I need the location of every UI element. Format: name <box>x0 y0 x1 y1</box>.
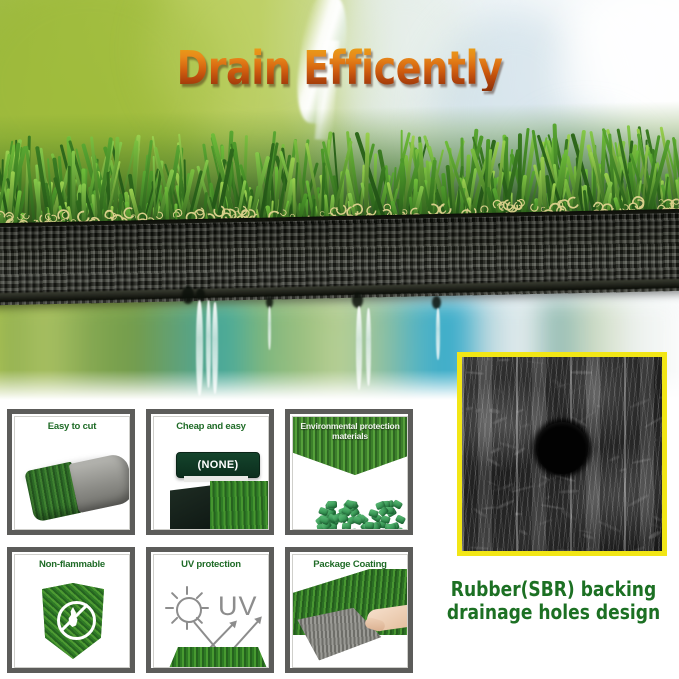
rolled-turf-icon <box>24 452 130 527</box>
feature-cell-package-coating[interactable]: Package Coating <box>285 547 413 673</box>
page-title: Drain Efficently <box>27 45 652 91</box>
feature-label: Package Coating <box>293 559 407 570</box>
feature-cell-cheap-and-easy[interactable]: Cheap and easy (NONE) <box>146 409 274 535</box>
feature-label: Non-flammable <box>15 559 129 570</box>
uv-label: UV <box>218 591 258 622</box>
product-feature-image: Drain Efficently Easy to cut Cheap and e… <box>0 0 679 679</box>
feature-grid: Easy to cut Cheap and easy (NONE) <box>7 409 417 673</box>
none-badge-text: (NONE) <box>198 459 239 471</box>
rubber-caption-line2: drainage holes design <box>438 601 669 624</box>
drainage-hole <box>536 422 588 474</box>
prohibition-circle-icon <box>57 601 96 640</box>
rubber-caption-line1: Rubber(SBR) backing <box>438 578 669 601</box>
rubber-backing-photo <box>457 352 667 556</box>
feature-label: Cheap and easy <box>154 421 268 432</box>
grass-swatch <box>210 481 269 530</box>
feature-cell-environmental-protection[interactable]: Environmental protection materials <box>285 409 413 535</box>
rubber-caption: Rubber(SBR) backing drainage holes desig… <box>438 578 669 624</box>
feature-cell-uv-protection[interactable]: UV protection UV <box>146 547 274 673</box>
feature-label: Environmental protection materials <box>293 421 407 441</box>
feature-cell-non-flammable[interactable]: Non-flammable <box>7 547 135 673</box>
turf-mat <box>0 108 679 308</box>
none-badge-icon: (NONE) <box>176 452 260 478</box>
feature-label: Easy to cut <box>15 421 129 432</box>
turf-backing-side <box>69 452 130 513</box>
turf-surface-icon <box>168 647 268 668</box>
plastic-pellets-icon <box>309 491 405 530</box>
feature-cell-easy-to-cut[interactable]: Easy to cut <box>7 409 135 535</box>
feature-label: UV protection <box>154 559 268 570</box>
